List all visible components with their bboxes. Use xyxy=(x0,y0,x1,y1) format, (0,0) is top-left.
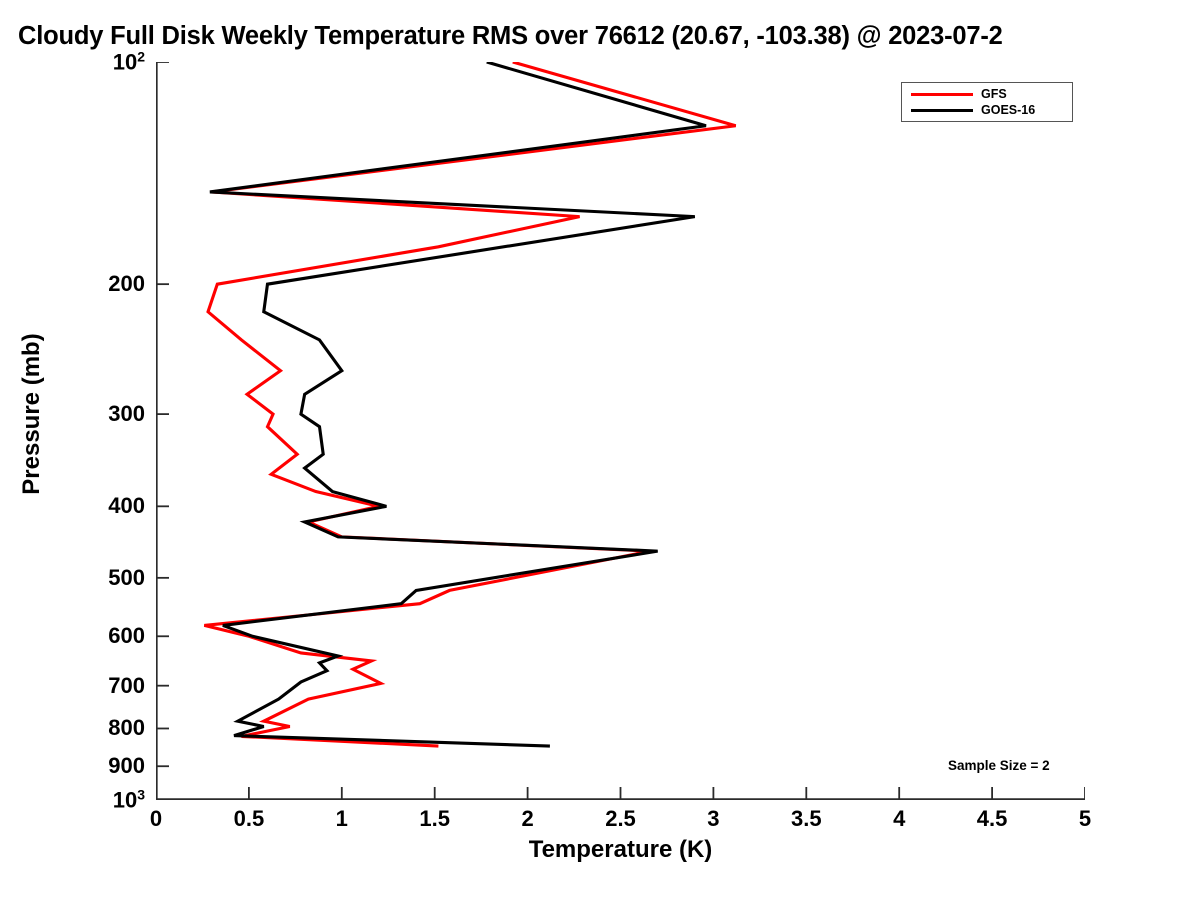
axes-frame xyxy=(156,62,1085,800)
plot-svg xyxy=(156,62,1085,800)
xtick-marks xyxy=(156,787,1085,799)
xtick-label: 3 xyxy=(707,806,719,832)
xtick-label: 4 xyxy=(893,806,905,832)
ytick-label: 200 xyxy=(0,271,145,297)
plot-area xyxy=(156,62,1085,800)
xtick-label: 2.5 xyxy=(605,806,636,832)
legend-label-gfs: GFS xyxy=(981,88,1007,101)
page-title: Cloudy Full Disk Weekly Temperature RMS … xyxy=(18,22,1200,51)
legend-swatch-gfs xyxy=(911,93,973,96)
xtick-label: 1 xyxy=(336,806,348,832)
ytick-label: 400 xyxy=(0,493,145,519)
ytick-label: 102 xyxy=(0,48,145,75)
ytick-label: 700 xyxy=(0,673,145,699)
series-line-goes-16 xyxy=(210,62,706,746)
ytick-label: 300 xyxy=(0,401,145,427)
legend-item-goes16: GOES-16 xyxy=(908,102,1066,118)
ytick-label: 500 xyxy=(0,565,145,591)
legend-item-gfs: GFS xyxy=(908,86,1066,102)
ytick-label: 600 xyxy=(0,623,145,649)
sample-size-annotation: Sample Size = 2 xyxy=(948,758,1050,773)
xtick-label: 0 xyxy=(150,806,162,832)
ytick-label: 103 xyxy=(0,786,145,813)
legend-swatch-goes16 xyxy=(911,109,973,112)
legend: GFS GOES-16 xyxy=(901,82,1073,122)
ytick-label: 900 xyxy=(0,753,145,779)
x-axis-title: Temperature (K) xyxy=(0,836,1200,864)
legend-label-goes16: GOES-16 xyxy=(981,104,1035,117)
xtick-label: 5 xyxy=(1079,806,1091,832)
xtick-label: 4.5 xyxy=(977,806,1008,832)
ytick-marks xyxy=(157,62,169,800)
chart-figure: Cloudy Full Disk Weekly Temperature RMS … xyxy=(0,0,1200,900)
xtick-label: 1.5 xyxy=(419,806,450,832)
xtick-label: 0.5 xyxy=(234,806,265,832)
xtick-label: 3.5 xyxy=(791,806,822,832)
data-series-group xyxy=(204,62,735,746)
xtick-label: 2 xyxy=(521,806,533,832)
ytick-label: 800 xyxy=(0,715,145,741)
